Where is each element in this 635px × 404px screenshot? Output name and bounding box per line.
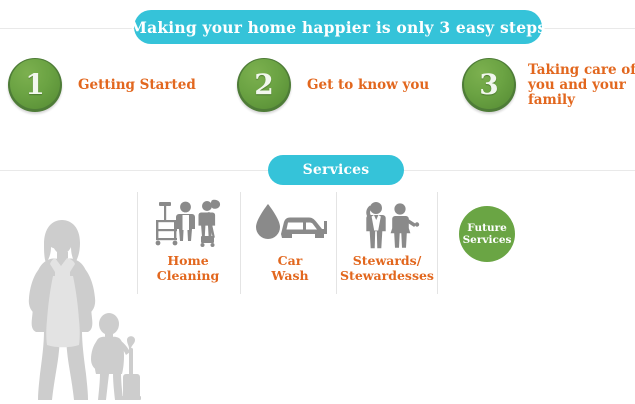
step-item-2[interactable]: 2 Get to know you [237,58,429,112]
future-services-label: Future Services [463,222,512,246]
promo-page: Making your home happier is only 3 easy … [0,0,635,404]
service-item-home-cleaning[interactable]: Home Cleaning [138,192,238,294]
stewards-icon [354,196,420,252]
woman-and-child-silhouette [8,214,148,404]
step-1-label: Getting Started [78,78,196,93]
step-1-circle: 1 [8,58,62,112]
step-2-label: Get to know you [307,78,429,93]
banner-title-pill: Making your home happier is only 3 easy … [134,10,542,44]
service-divider-4 [437,192,438,294]
step-3-label: Taking care of you and your family [528,63,635,108]
banner-title-text: Making your home happier is only 3 easy … [130,18,547,37]
service-label-stewards: Stewards/ Stewardesses [340,254,434,283]
step-2-number: 2 [237,58,291,110]
service-label-home-cleaning: Home Cleaning [157,254,219,283]
future-services-button[interactable]: Future Services [459,206,515,262]
step-item-1[interactable]: 1 Getting Started [8,58,196,112]
step-item-3[interactable]: 3 Taking care of you and your family [462,58,635,112]
service-item-stewards[interactable]: Stewards/ Stewardesses [337,192,437,294]
step-1-number: 1 [8,58,62,110]
home-cleaning-icon [153,196,223,252]
service-label-car-wash: Car Wash [271,254,308,283]
services-title-text: Services [303,162,370,178]
step-2-circle: 2 [237,58,291,112]
car-wash-icon [251,196,329,252]
step-3-circle: 3 [462,58,516,112]
service-item-car-wash[interactable]: Car Wash [240,192,340,294]
services-title-pill: Services [268,155,404,185]
step-3-number: 3 [462,58,516,110]
